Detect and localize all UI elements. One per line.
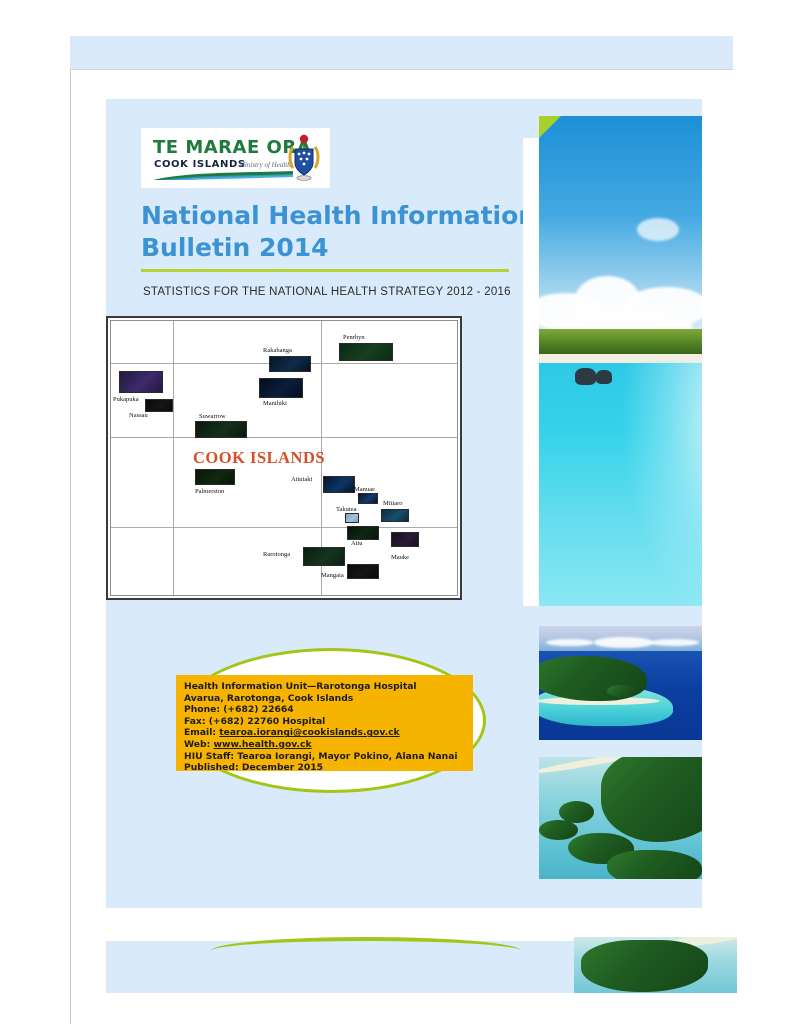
photo-rock-1 bbox=[575, 368, 596, 385]
page-subtitle: STATISTICS FOR THE NATIONAL HEALTH STRAT… bbox=[143, 286, 511, 298]
contact-line-fax: Fax: (+682) 22760 Hospital bbox=[184, 716, 473, 728]
ministry-logo: TE MARAE ORA COOK ISLANDS Ministry of He… bbox=[141, 128, 330, 188]
island-label-pukapuka: Pukapuka bbox=[113, 397, 139, 404]
map-gridline-horizontal-1 bbox=[111, 437, 457, 438]
map-gridline-horizontal-2 bbox=[111, 527, 457, 528]
next-page-photo bbox=[574, 937, 737, 993]
island-label-rarotonga: Rarotonga bbox=[263, 552, 290, 559]
contact-line-web: Web: www.health.gov.ck bbox=[184, 739, 473, 751]
photo-rock-2 bbox=[596, 370, 612, 384]
island-label-atiu: Atiu bbox=[351, 541, 363, 548]
contact-line-staff: HIU Staff: Tearoa Iorangi, Mayor Pokino,… bbox=[184, 751, 473, 763]
previous-page-panel-sliver bbox=[70, 36, 733, 69]
island-thumbnail-rakahanga bbox=[269, 356, 311, 372]
contact-line-email: Email: tearoa.iorangi@cookislands.gov.ck bbox=[184, 727, 473, 739]
island-label-mitiaro: Mitiaro bbox=[383, 501, 403, 508]
aerial-coastline-photo bbox=[539, 757, 702, 879]
island-thumbnail-manuae bbox=[358, 493, 378, 504]
contact-details-box: Health Information Unit—Rarotonga Hospit… bbox=[176, 675, 473, 771]
email-link[interactable]: tearoa.iorangi@cookislands.gov.ck bbox=[219, 727, 399, 738]
logo-ministry-line: Ministry of Health bbox=[239, 161, 291, 169]
island-thumbnail-takutea bbox=[345, 513, 359, 523]
island-label-palmerston: Palmerston bbox=[195, 489, 224, 496]
island-thumbnail-atiu bbox=[347, 526, 379, 540]
island-thumbnail-rarotonga bbox=[303, 547, 345, 566]
map-title-label: COOK ISLANDS bbox=[193, 448, 325, 468]
island-thumbnail-penrhyn bbox=[339, 343, 393, 361]
island-thumbnail-manihiki bbox=[259, 378, 303, 398]
island-thumbnail-suwarrow bbox=[195, 421, 247, 438]
island-thumbnail-aitutaki bbox=[323, 476, 355, 493]
coat-of-arms-icon bbox=[284, 132, 324, 184]
contact-line-address: Avarua, Rarotonga, Cook Islands bbox=[184, 693, 473, 705]
island-label-mauke: Mauke bbox=[391, 555, 409, 562]
green-corner-accent bbox=[539, 116, 561, 138]
island-thumbnail-pukapuka bbox=[119, 371, 163, 393]
title-divider bbox=[141, 269, 509, 272]
photo-shore-highlight bbox=[621, 361, 703, 606]
next-page-sheet bbox=[70, 941, 734, 1024]
island-label-aitutaki: Aitutaki bbox=[291, 477, 312, 484]
page-sheet: TE MARAE ORA COOK ISLANDS Ministry of He… bbox=[70, 70, 734, 908]
island-thumbnail-nassau bbox=[145, 399, 173, 412]
island-label-rakahanga: Rakahanga bbox=[263, 348, 292, 355]
island-label-manihiki: Manihiki bbox=[263, 401, 287, 408]
logo-text-group: TE MARAE ORA COOK ISLANDS Ministry of He… bbox=[147, 128, 284, 188]
aerial-clouds bbox=[539, 637, 702, 648]
document-page: TE MARAE ORA COOK ISLANDS Ministry of He… bbox=[0, 0, 791, 1024]
island-thumbnail-mangaia bbox=[347, 564, 379, 579]
aerial-island-lagoon-photo bbox=[539, 626, 702, 740]
island-label-mangaia: Mangaia bbox=[321, 573, 344, 580]
island-label-manuae: Manuae bbox=[354, 487, 375, 494]
lagoon-beach-photo bbox=[539, 116, 702, 606]
next-page-panel bbox=[106, 941, 702, 993]
cook-islands-map: PenrhynRakahangaPukapukaManihikiNassauSu… bbox=[106, 316, 462, 600]
island-thumbnail-palmerston bbox=[195, 469, 235, 485]
map-inner-frame: PenrhynRakahangaPukapukaManihikiNassauSu… bbox=[110, 320, 458, 596]
island-label-suwarrow: Suwarrow bbox=[199, 414, 226, 421]
island-label-nassau: Nassau bbox=[129, 413, 148, 420]
island-thumbnail-mitiaro bbox=[381, 509, 409, 522]
web-link[interactable]: www.health.gov.ck bbox=[214, 739, 312, 750]
photo-treeline bbox=[539, 329, 702, 356]
logo-swoosh-graphic bbox=[153, 169, 293, 180]
coastline-islet-2 bbox=[539, 820, 578, 840]
aerial-islet bbox=[607, 685, 636, 696]
island-thumbnail-mauke bbox=[391, 532, 419, 547]
web-label: Web: bbox=[184, 739, 214, 750]
email-label: Email: bbox=[184, 727, 219, 738]
island-label-takutea: Takutea bbox=[336, 507, 356, 514]
contact-line-phone: Phone: (+682) 22664 bbox=[184, 704, 473, 716]
contact-line-published: Published: December 2015 bbox=[184, 762, 473, 774]
contact-line-unit: Health Information Unit—Rarotonga Hospit… bbox=[184, 681, 473, 693]
island-label-penrhyn: Penrhyn bbox=[343, 335, 365, 342]
